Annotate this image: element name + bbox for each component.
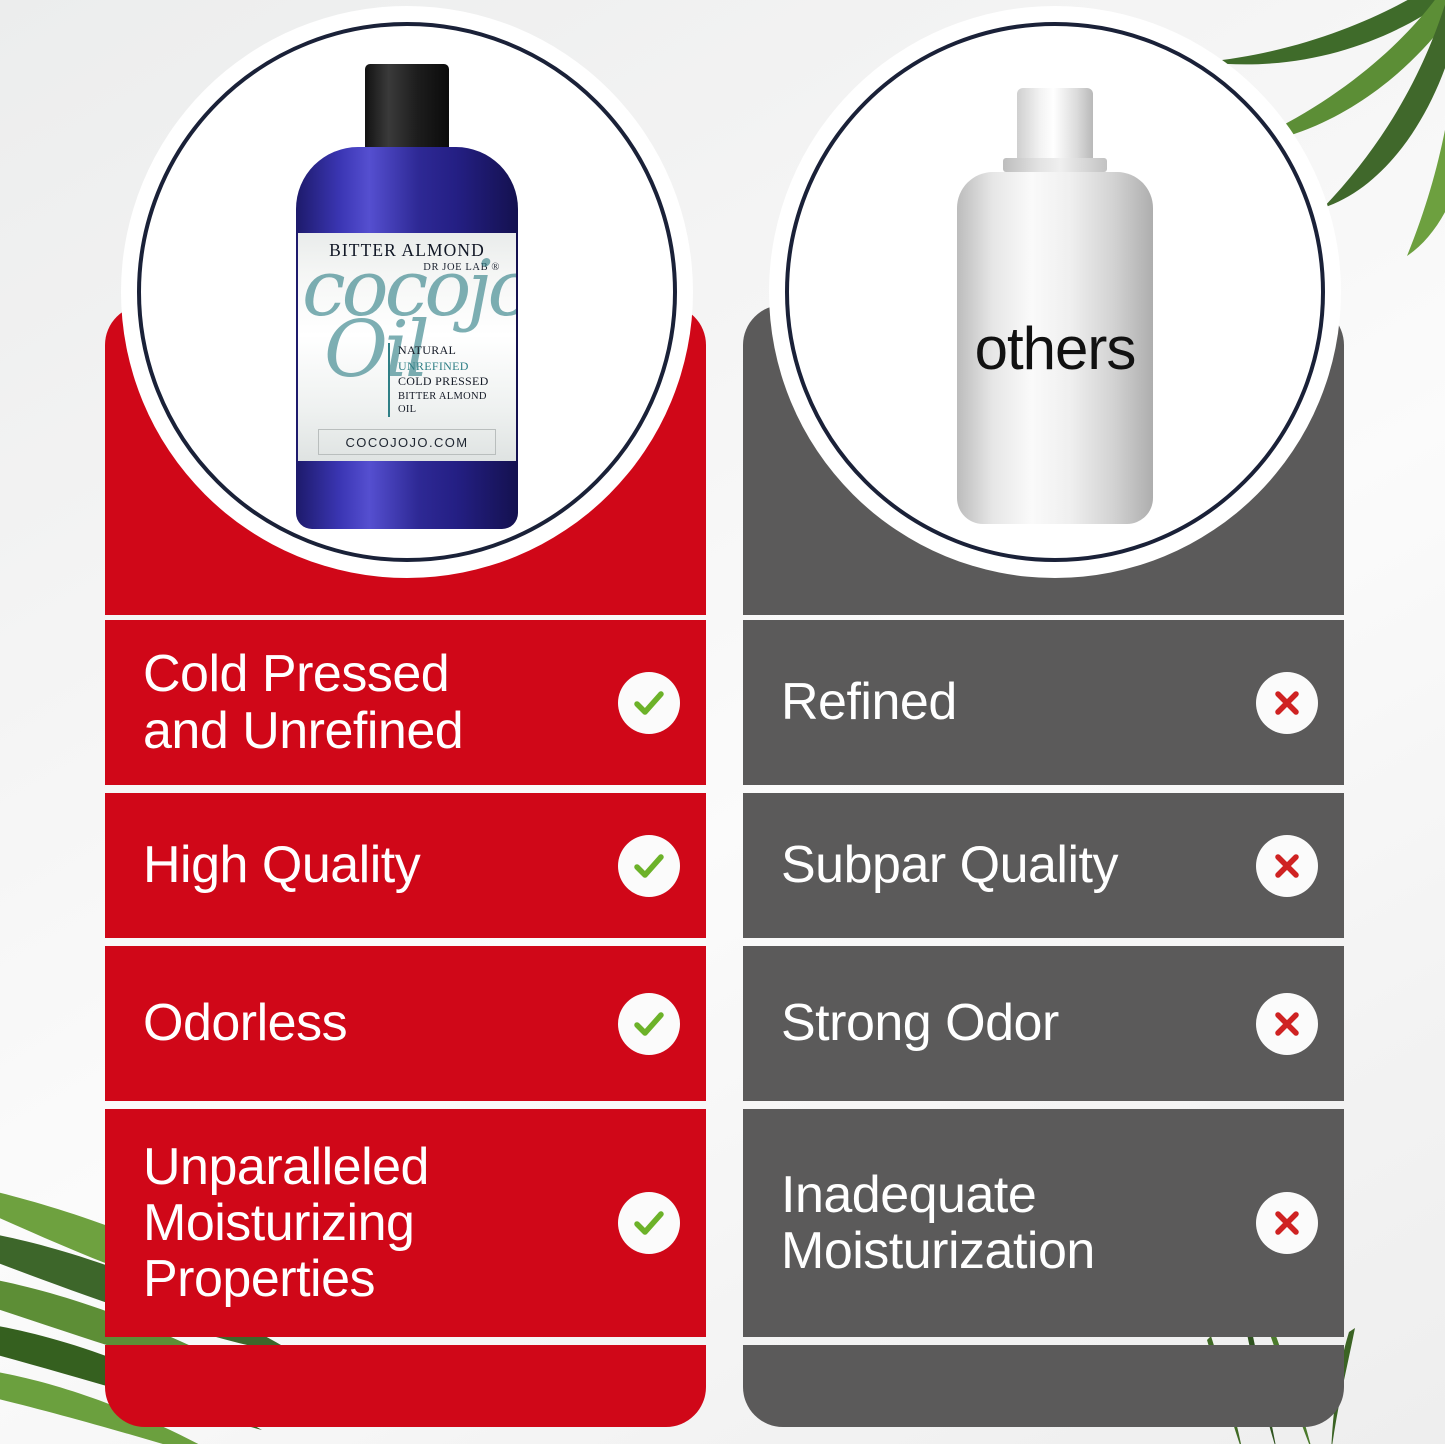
feature-label: Refined (781, 674, 1256, 730)
others-bottle-image: others (789, 26, 1321, 558)
bottle-body: Bitter Almond Dr Joe Lab ® cocojo Oil NA… (296, 147, 518, 529)
cocojojo-panel-footer (105, 1345, 706, 1427)
bottle-claims: NATURAL UNREFINED COLD PRESSED BITTER AL… (388, 343, 508, 417)
bottle-claim-2: UNREFINED (398, 359, 508, 375)
cocojojo-bottle-image: Bitter Almond Dr Joe Lab ® cocojo Oil NA… (141, 26, 673, 558)
cocojojo-feature-list: Cold Pressed and Unrefined High Quality … (105, 620, 706, 1427)
others-bottle-ring (1003, 158, 1107, 172)
cross-icon (1256, 993, 1318, 1055)
bottle-claim-1: NATURAL (398, 343, 508, 359)
cross-icon (1256, 1192, 1318, 1254)
check-icon (618, 672, 680, 734)
bottle-url: COCOJOJO.COM (318, 429, 496, 455)
others-panel-footer (743, 1345, 1344, 1427)
table-row[interactable]: Cold Pressed and Unrefined (105, 620, 706, 785)
cross-icon (1256, 835, 1318, 897)
table-row[interactable]: High Quality (105, 793, 706, 938)
cocojojo-product-circle: Bitter Almond Dr Joe Lab ® cocojo Oil NA… (137, 22, 677, 562)
others-bottle-label: others (957, 314, 1153, 383)
others-bottle-body: others (957, 172, 1153, 524)
table-row[interactable]: Inadequate Moisturization (743, 1109, 1344, 1337)
comparison-infographic: Cold Pressed and Unrefined High Quality … (0, 0, 1445, 1444)
table-row[interactable]: Subpar Quality (743, 793, 1344, 938)
feature-label: Inadequate Moisturization (781, 1167, 1256, 1279)
table-row[interactable]: Odorless (105, 946, 706, 1101)
check-icon (618, 835, 680, 897)
bottle-cap (365, 64, 449, 150)
table-row[interactable]: Refined (743, 620, 1344, 785)
table-row[interactable]: Unparalleled Moisturizing Properties (105, 1109, 706, 1337)
bottle-claim-4: BITTER ALMOND OIL (398, 390, 508, 417)
others-feature-list: Refined Subpar Quality Strong Odor Inade… (743, 620, 1344, 1427)
others-product-circle: others (785, 22, 1325, 562)
feature-label: Subpar Quality (781, 837, 1256, 893)
check-icon (618, 1192, 680, 1254)
table-row[interactable]: Strong Odor (743, 946, 1344, 1101)
cross-icon (1256, 672, 1318, 734)
feature-label: Unparalleled Moisturizing Properties (143, 1139, 618, 1307)
check-icon (618, 993, 680, 1055)
bottle-label: Bitter Almond Dr Joe Lab ® cocojo Oil NA… (298, 233, 516, 461)
feature-label: Strong Odor (781, 995, 1256, 1051)
feature-label: High Quality (143, 837, 618, 893)
others-bottle-neck (1017, 88, 1093, 158)
feature-label: Odorless (143, 995, 618, 1051)
bottle-claim-3: COLD PRESSED (398, 374, 508, 390)
feature-label: Cold Pressed and Unrefined (143, 646, 618, 758)
